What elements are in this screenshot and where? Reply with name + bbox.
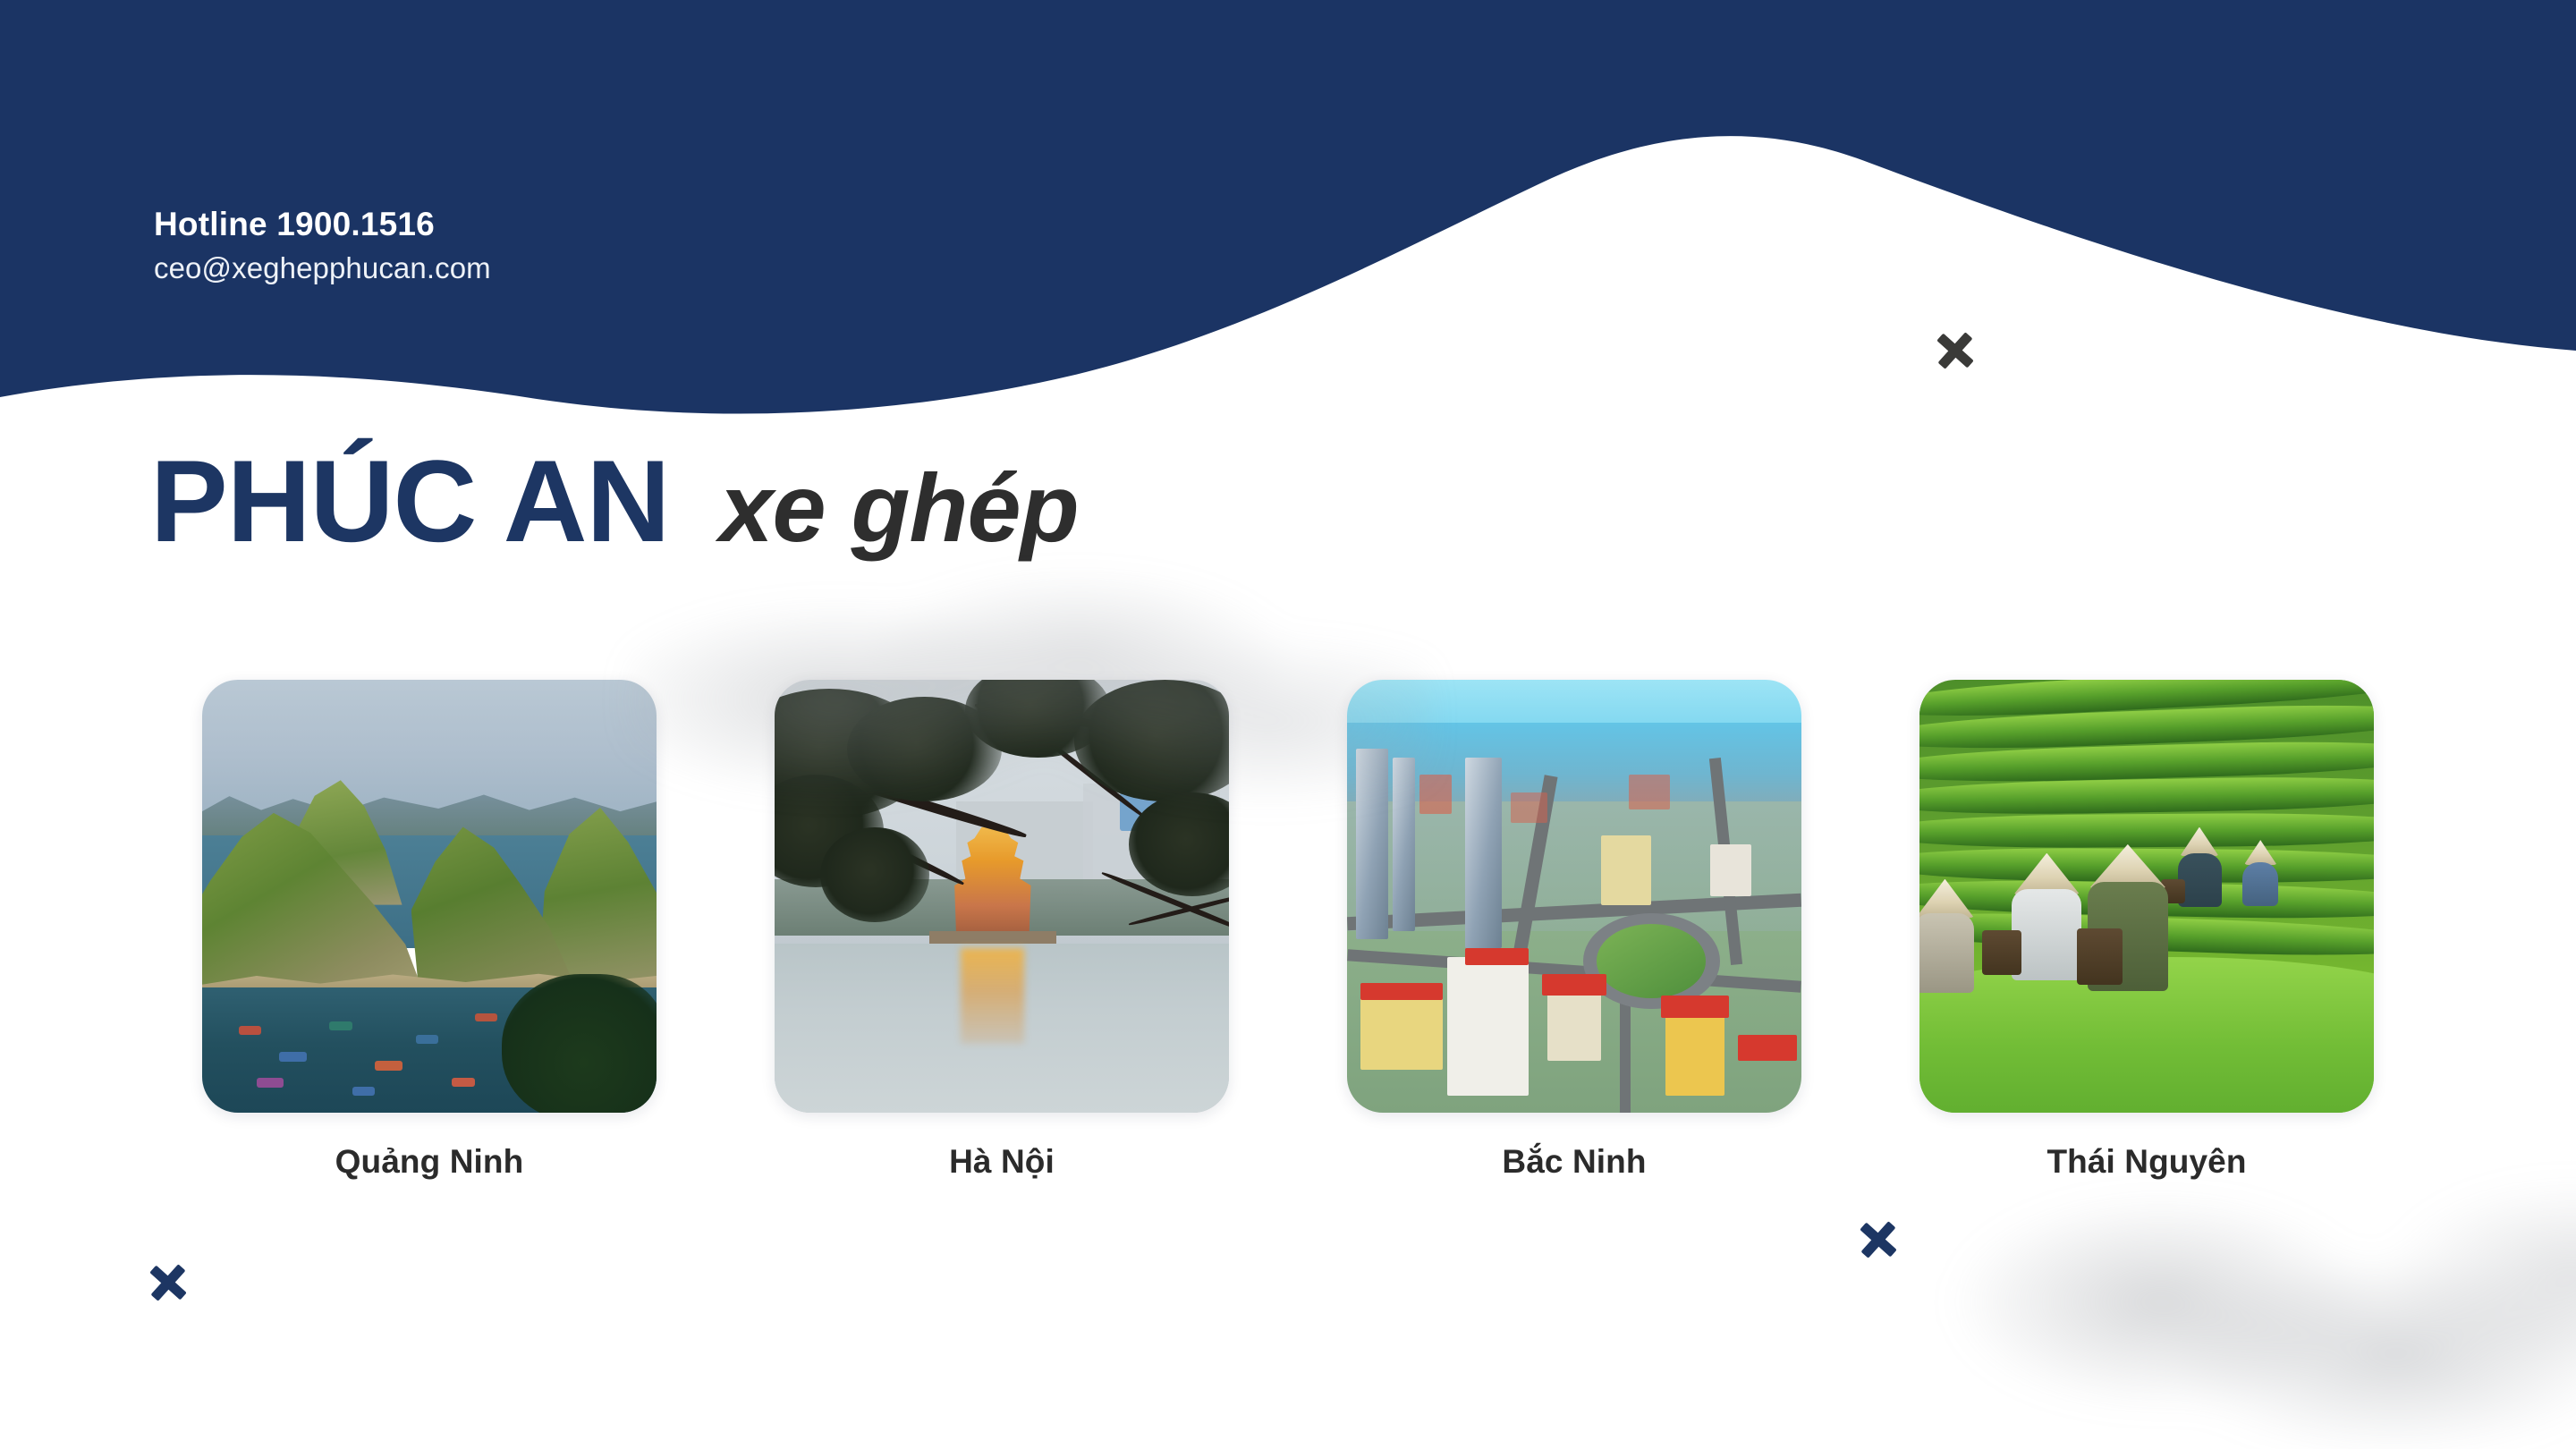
hotline-text: Hotline 1900.1516	[154, 204, 491, 244]
destination-label-thai-nguyen: Thái Nguyên	[2046, 1143, 2246, 1181]
brand-name-secondary: xe ghép	[719, 460, 1078, 556]
bac-ninh-cityscape-photo	[1347, 680, 1801, 1113]
brand-name-primary: PHÚC AN	[150, 443, 669, 559]
destination-thumbnail-ha-noi[interactable]	[775, 680, 1229, 1113]
poster-canvas: Hotline 1900.1516 ceo@xeghepphucan.com P…	[0, 0, 2576, 1449]
destination-card-bac-ninh[interactable]: Bắc Ninh	[1288, 680, 1860, 1181]
destination-label-bac-ninh: Bắc Ninh	[1502, 1143, 1646, 1181]
destination-thumbnail-thai-nguyen[interactable]	[1919, 680, 2374, 1113]
halong-bay-photo	[202, 680, 657, 1113]
cloud-mist-bottom	[1941, 1154, 2576, 1449]
destination-card-row: Quảng Ninh	[143, 680, 2433, 1181]
cross-bottom-left-icon	[148, 1262, 189, 1303]
destination-label-quang-ninh: Quảng Ninh	[335, 1143, 524, 1181]
destination-card-ha-noi[interactable]: Hà Nội	[716, 680, 1288, 1181]
cross-top-right-icon	[1935, 330, 1976, 371]
thai-nguyen-tea-hills-photo	[1919, 680, 2374, 1113]
email-text: ceo@xeghepphucan.com	[154, 250, 491, 287]
destination-card-thai-nguyen[interactable]: Thái Nguyên	[1860, 680, 2433, 1181]
destination-thumbnail-bac-ninh[interactable]	[1347, 680, 1801, 1113]
brand-title: PHÚC AN xe ghép	[150, 443, 1079, 559]
cross-bottom-right-icon	[1858, 1219, 1899, 1260]
destination-thumbnail-quang-ninh[interactable]	[202, 680, 657, 1113]
hoan-kiem-turtle-tower-photo	[775, 680, 1229, 1113]
destination-card-quang-ninh[interactable]: Quảng Ninh	[143, 680, 716, 1181]
contact-block: Hotline 1900.1516 ceo@xeghepphucan.com	[154, 204, 491, 287]
destination-label-ha-noi: Hà Nội	[949, 1143, 1055, 1181]
